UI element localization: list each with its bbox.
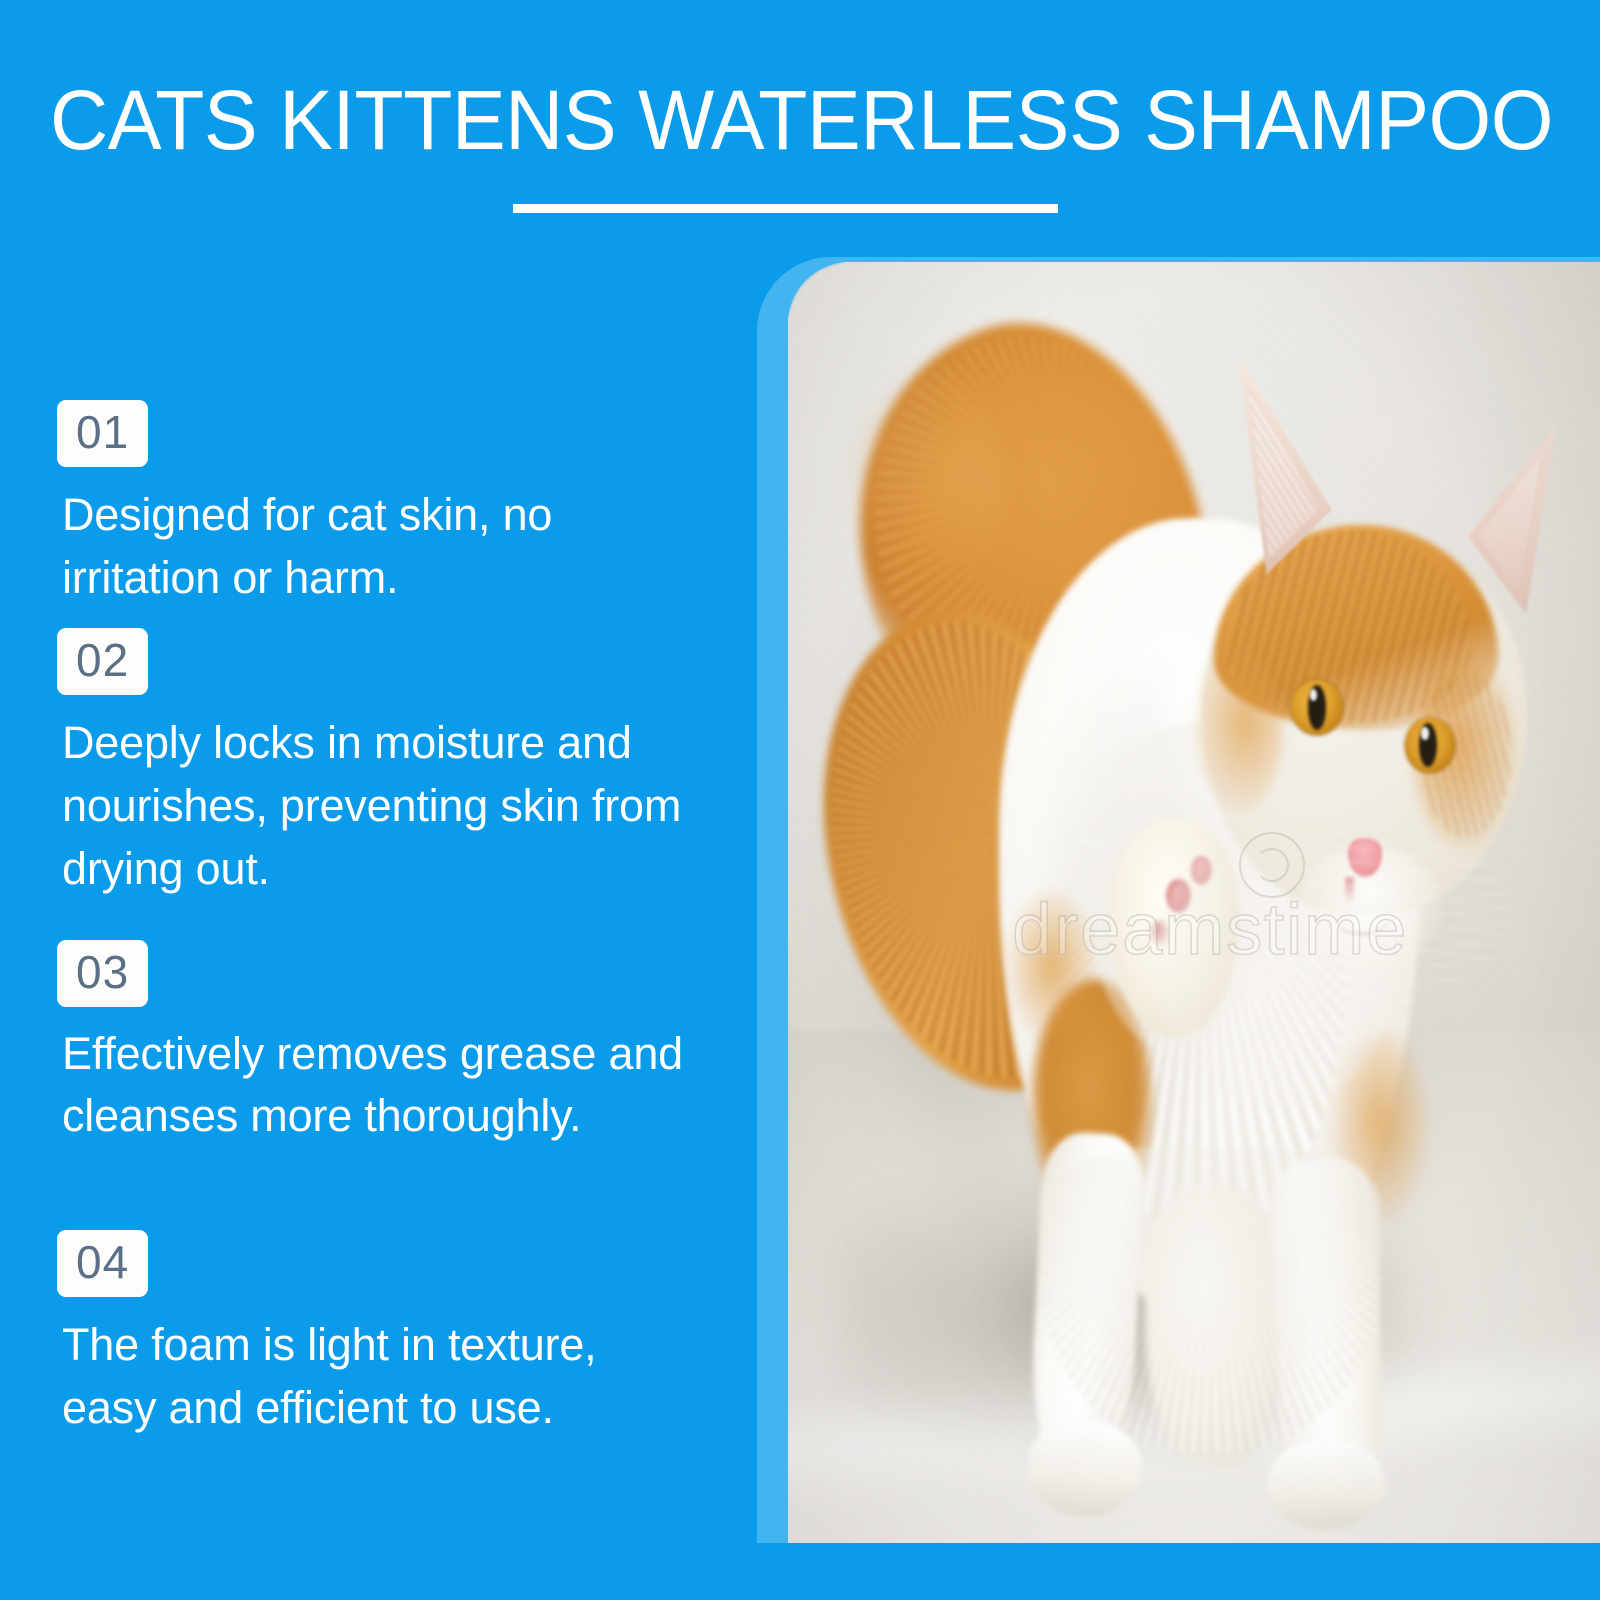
cat-whiskers [1251,826,1511,1005]
feature-list: 01 Designed for cat skin, no irritation … [0,400,720,1560]
poster-header: CATS KITTENS WATERLESS SHAMPOO [0,0,1600,240]
feature-description: Designed for cat skin, no irritation or … [62,483,700,609]
feature-item-03: 03 Effectively removes grease and cleans… [0,940,700,1147]
feature-number-badge: 03 [57,940,148,1007]
cat-front-right-paw [1267,1441,1385,1531]
title-divider [513,204,1058,213]
feature-number-badge: 01 [57,400,148,467]
feature-number-badge: 04 [57,1230,148,1297]
cat-flank-ginger-patch-upper [1007,890,1096,1044]
cat-subject [788,262,1600,1543]
feature-item-02: 02 Deeply locks in moisture and nourishe… [0,628,700,900]
cat-tail-tip [845,364,1007,582]
cat-right-eye-glint [1421,727,1428,740]
page-title: CATS KITTENS WATERLESS SHAMPOO [50,72,1509,168]
feature-description: Effectively removes grease and cleanses … [62,1023,700,1147]
cat-left-cheek-patch [1194,646,1283,813]
feature-item-04: 04 The foam is light in texture, easy an… [0,1230,700,1439]
cat-photo: dreamstime [788,262,1600,1543]
feature-description: The foam is light in texture, easy and e… [62,1313,700,1439]
feature-description: Deeply locks in moisture and nourishes, … [62,711,700,900]
product-infographic-poster: CATS KITTENS WATERLESS SHAMPOO 01 Design… [0,0,1600,1600]
feature-item-01: 01 Designed for cat skin, no irritation … [0,400,700,609]
feature-number-badge: 02 [57,628,148,695]
